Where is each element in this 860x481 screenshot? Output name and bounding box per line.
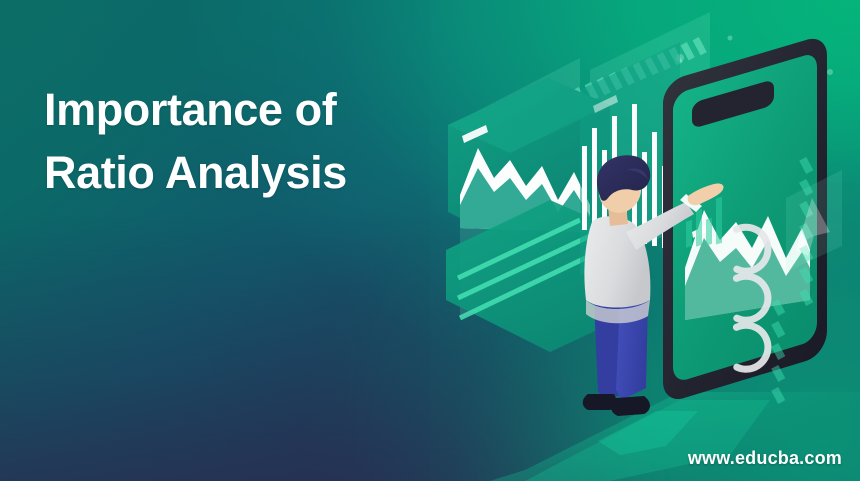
banner: Importance of Ratio Analysis www.educba.… [0, 0, 860, 481]
page-title: Importance of Ratio Analysis [44, 78, 444, 204]
site-watermark: www.educba.com [688, 448, 842, 469]
title-line-1: Importance of [44, 78, 444, 141]
title-line-2: Ratio Analysis [44, 141, 444, 204]
analytics-illustration [430, 0, 860, 481]
